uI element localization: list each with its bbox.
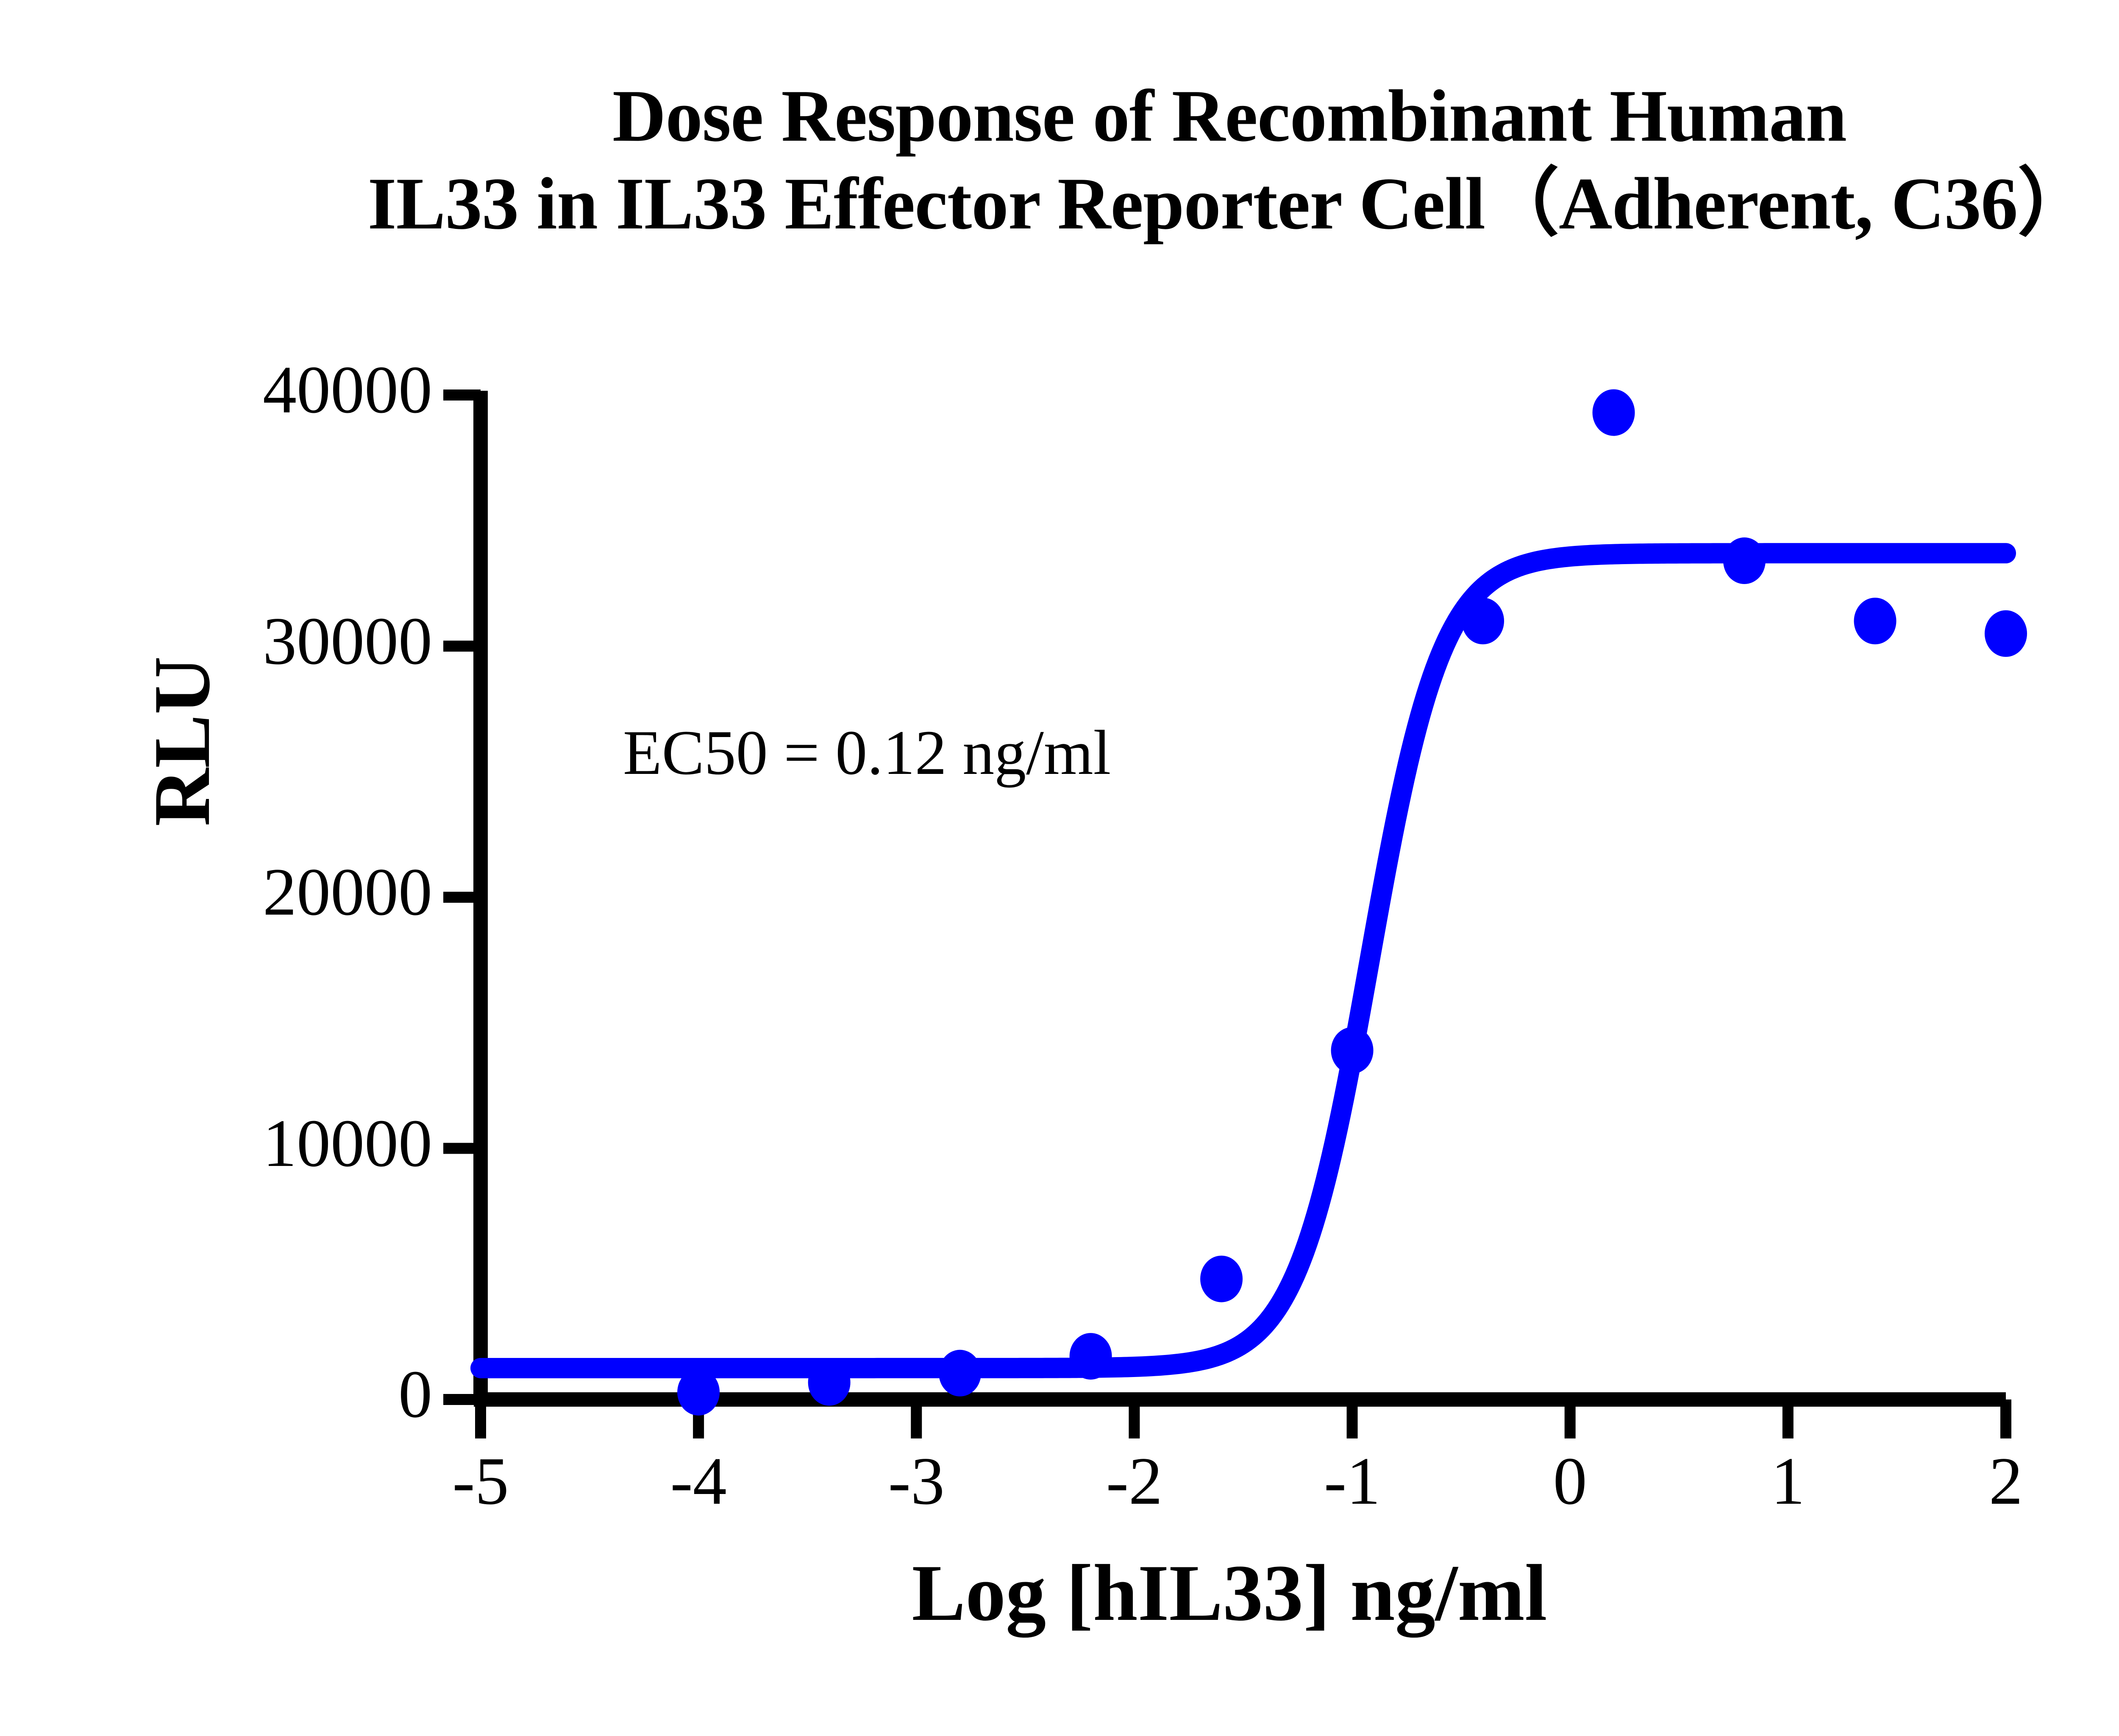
y-tick-label: 0: [127, 1355, 432, 1433]
fit-curve-path: [481, 553, 2006, 1368]
data-point: [1985, 610, 2027, 657]
y-tick-label: 40000: [127, 351, 432, 429]
data-point: [1331, 1027, 1374, 1074]
x-tick-label: -3: [831, 1442, 1001, 1520]
y-tick-label: 20000: [127, 853, 432, 931]
data-point: [808, 1359, 851, 1406]
axis-lines: [474, 391, 2006, 1399]
x-tick-label: 0: [1485, 1442, 1655, 1520]
x-tick-label: 2: [1921, 1442, 2091, 1520]
data-point: [1200, 1256, 1243, 1302]
data-point: [1070, 1333, 1112, 1380]
data-point: [677, 1369, 720, 1416]
fit-curve: [481, 553, 2006, 1368]
x-tick-label: -1: [1268, 1442, 1437, 1520]
data-point: [1462, 598, 1504, 644]
x-tick-label: 1: [1703, 1442, 1873, 1520]
data-point: [1854, 598, 1897, 644]
y-tick-label: 30000: [127, 602, 432, 680]
data-point: [939, 1350, 981, 1397]
x-tick-label: -4: [614, 1442, 783, 1520]
data-point: [1723, 537, 1766, 584]
data-point: [1593, 389, 1635, 436]
chart-figure: Dose Response of Recombinant Human IL33 …: [0, 0, 2119, 1736]
x-tick-label: -5: [396, 1442, 565, 1520]
y-tick-label: 10000: [127, 1104, 432, 1182]
x-tick-label: -2: [1049, 1442, 1219, 1520]
